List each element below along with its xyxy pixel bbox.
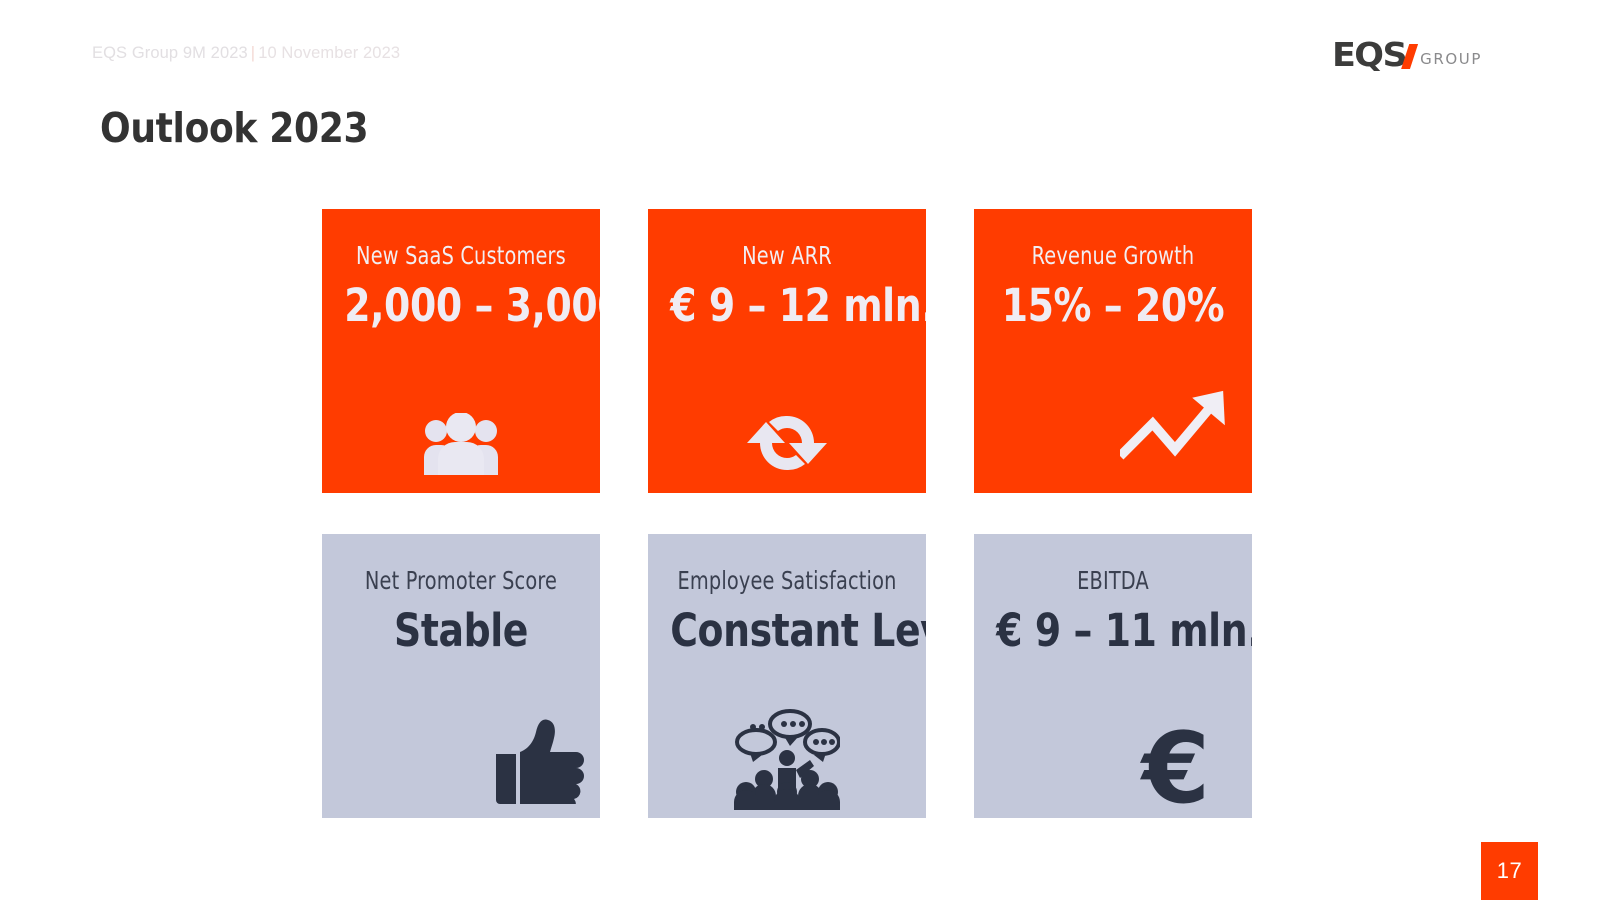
header-separator: | [248, 44, 258, 62]
svg-text:€: € [1140, 718, 1210, 814]
logo-group-wordmark: GROUP [1420, 51, 1482, 68]
outlook-card-net-promoter-score: Net Promoter Score Stable [322, 534, 600, 818]
card-value: € 9 – 12 mln. [670, 279, 904, 333]
card-label: Net Promoter Score [341, 566, 580, 596]
card-value: 2,000 – 3,000 [344, 279, 578, 333]
card-label: EBITDA [993, 566, 1232, 596]
outlook-card-new-saas-customers: New SaaS Customers 2,000 – 3,000 [322, 209, 600, 493]
card-value: Constant Level [670, 604, 904, 658]
eqs-group-logo: EQS GROUP [1332, 36, 1482, 70]
outlook-card-ebitda: EBITDA € 9 – 11 mln. € [974, 534, 1252, 818]
outlook-card-employee-satisfaction: Employee Satisfaction Constant Level [648, 534, 926, 818]
trending-up-arrow-icon [1120, 369, 1230, 473]
card-value: € 9 – 11 mln. [996, 604, 1230, 658]
page-title: Outlook 2023 [100, 104, 368, 152]
slide-header: EQS Group 9M 2023|10 November 2023 EQS G… [0, 0, 1600, 96]
card-value: 15% – 20% [996, 279, 1230, 333]
card-value: Stable [344, 604, 578, 658]
outlook-card-revenue-growth: Revenue Growth 15% – 20% [974, 209, 1252, 493]
recurring-refresh-icon [744, 375, 830, 479]
outlook-card-grid: New SaaS Customers 2,000 – 3,000 New ARR… [322, 209, 1252, 818]
card-label: New SaaS Customers [341, 241, 580, 271]
card-label: Employee Satisfaction [667, 566, 906, 596]
header-date: 10 November 2023 [258, 44, 400, 62]
people-group-icon [422, 371, 500, 475]
euro-symbol-icon: € [1108, 710, 1218, 814]
thumbs-up-icon [474, 700, 584, 804]
presenter-audience-icon [734, 706, 840, 810]
outlook-card-new-arr: New ARR € 9 – 12 mln. [648, 209, 926, 493]
header-meta: EQS Group 9M 2023|10 November 2023 [92, 44, 400, 63]
header-document-label: EQS Group 9M 2023 [92, 44, 248, 62]
logo-eqs-wordmark: EQS [1332, 40, 1406, 70]
page-number-badge: 17 [1481, 842, 1538, 900]
card-label: Revenue Growth [993, 241, 1232, 271]
card-label: New ARR [667, 241, 906, 271]
